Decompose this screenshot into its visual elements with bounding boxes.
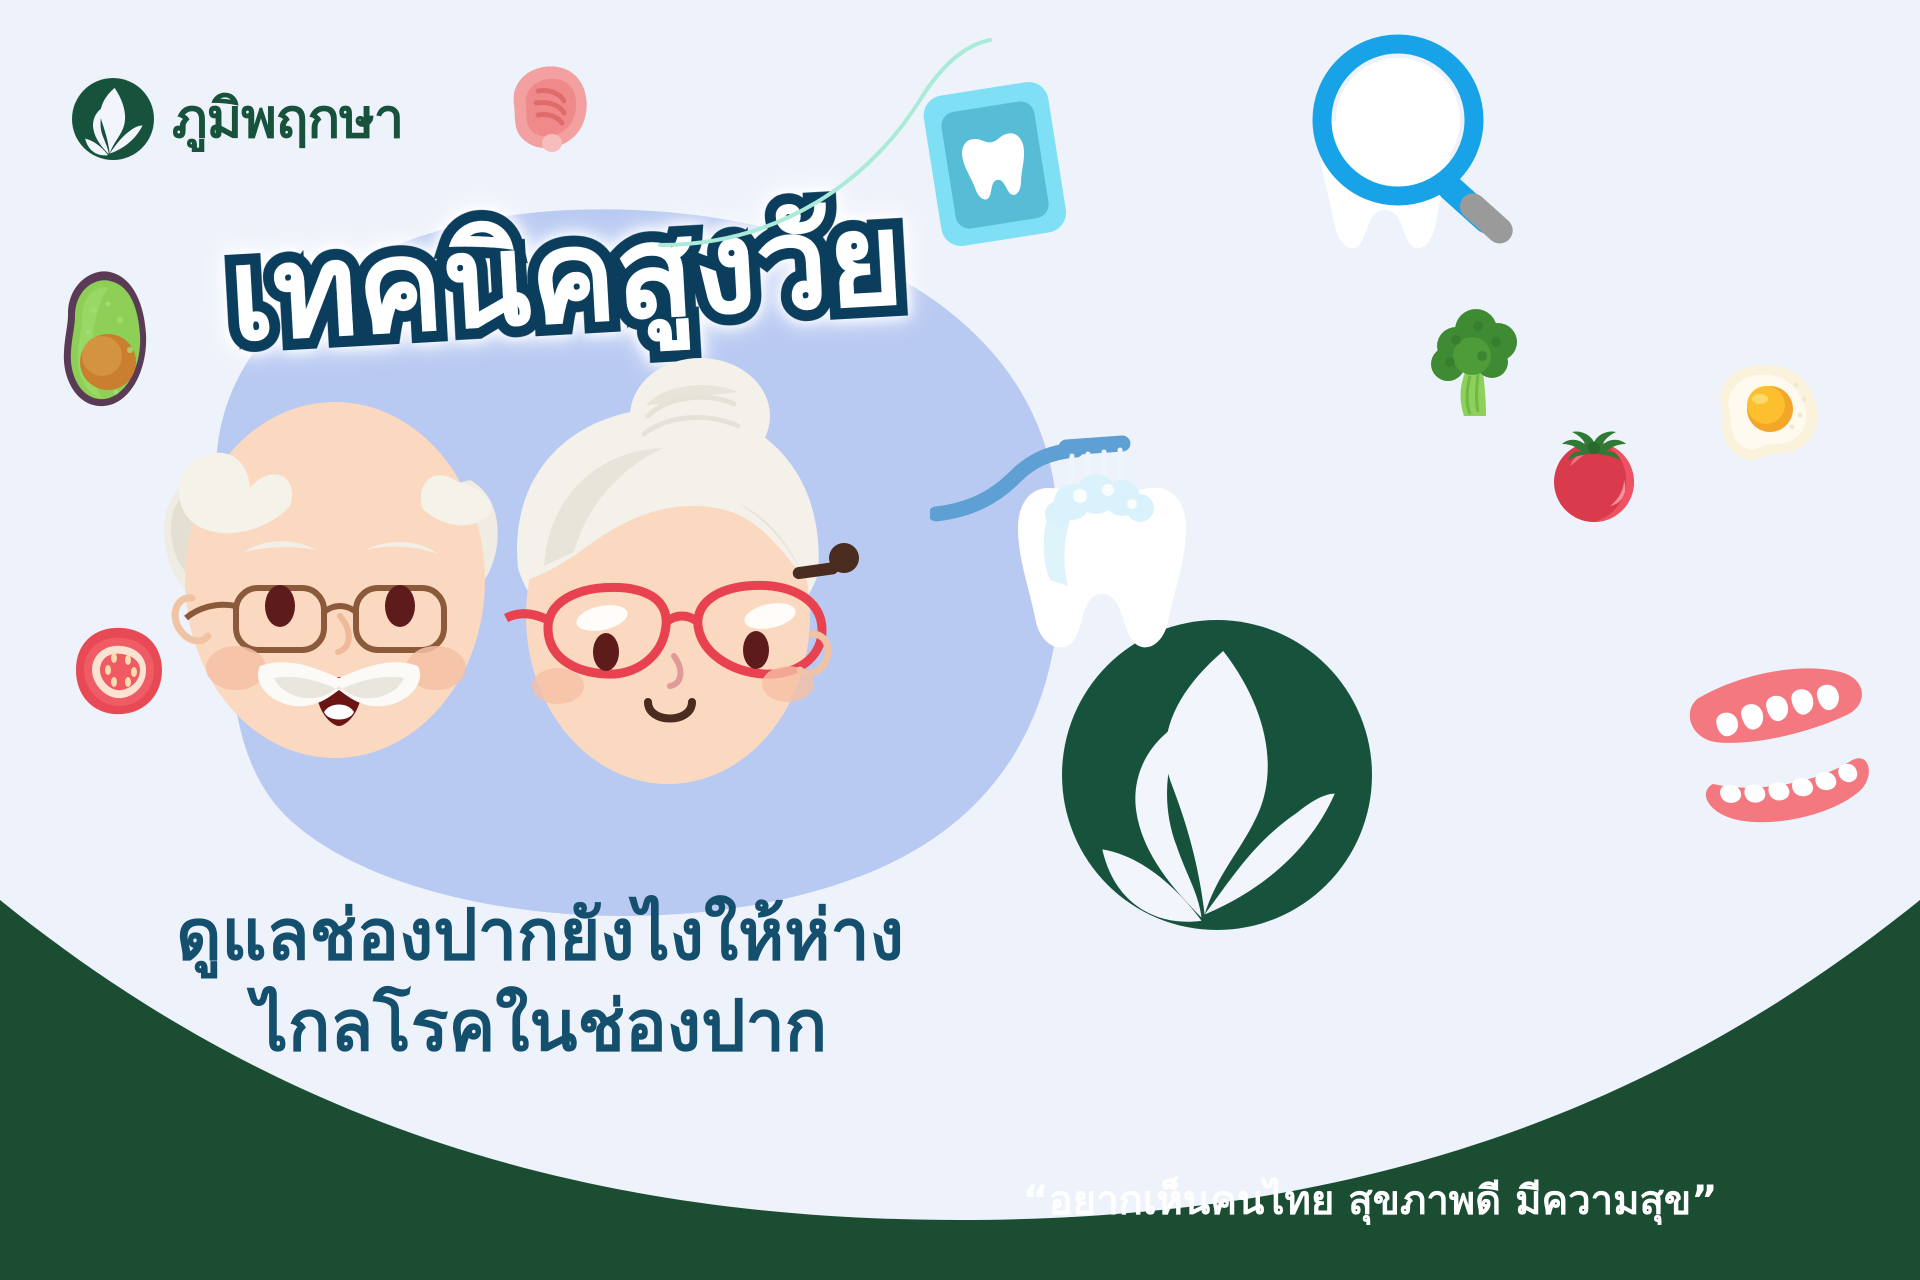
brand-name: ภูมิพฤกษา [172,92,403,146]
dentures-icon [1655,660,1920,840]
tomato-slice-icon [58,620,168,720]
toothbrush-tooth-icon [930,410,1230,660]
brand-logo[interactable]: ภูมิพฤกษา [72,78,403,160]
steak-icon [490,55,600,160]
subtitle-line-2: ไกลโรคในช่องปาก [120,981,960,1072]
subtitle: ดูแลช่องปากยังไงให้ห่าง ไกลโรคในช่องปาก [120,890,960,1072]
subtitle-line-1: ดูแลช่องปากยังไงให้ห่าง [120,890,960,981]
avocado-icon [48,258,168,418]
tagline: “อยากเห็นคนไทย สุขภาพดี มีความสุข” [840,1168,1900,1232]
elderly-woman [506,358,859,784]
badge-logo[interactable] [1062,620,1372,930]
fried-egg-icon [1700,355,1830,475]
leaf-logo-icon [72,78,154,160]
broccoli-icon [1420,300,1540,430]
tomato-icon [1540,420,1650,530]
poster-canvas: ภูมิพฤกษา เทคนิคสูงวัย เทคนิคสูงวัย [0,0,1920,1280]
dental-floss-icon [910,70,1080,250]
magnifier-tooth-icon [1290,30,1560,290]
elderly-man [164,402,498,758]
elderly-couple-illustration [140,330,940,810]
